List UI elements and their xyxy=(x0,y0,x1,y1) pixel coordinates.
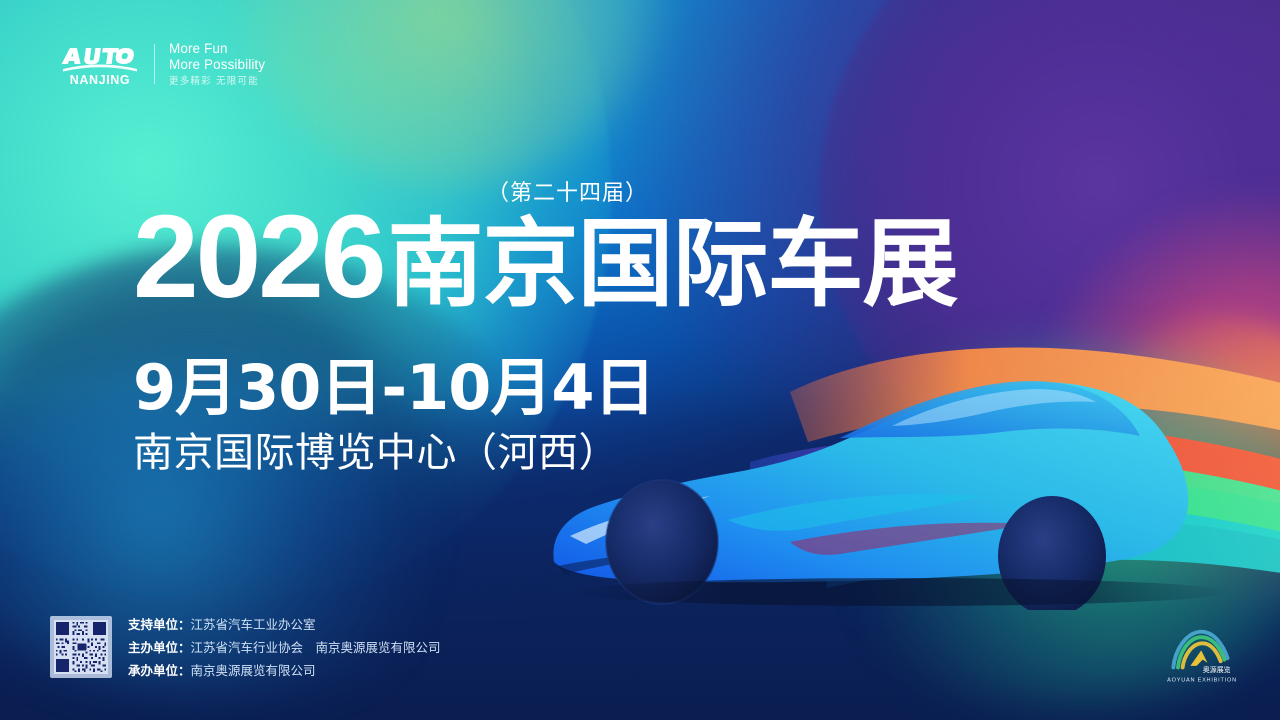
credit-value: 南京奥源展览有限公司 xyxy=(191,663,316,678)
brand-tagline: More Fun More Possibility 更多精彩 无限可能 xyxy=(169,41,265,87)
credit-label: 支持单位： xyxy=(128,617,191,632)
tagline-chinese: 更多精彩 无限可能 xyxy=(169,76,265,87)
auto-nanjing-logo: NANJING xyxy=(60,40,140,88)
event-dates: 9月30日-10月4日 xyxy=(133,337,655,427)
credit-label: 主办单位： xyxy=(128,640,191,655)
credit-row: 支持单位：江苏省汽车工业办公室 xyxy=(128,613,441,636)
brand-lockup: NANJING More Fun More Possibility 更多精彩 无… xyxy=(60,40,265,88)
title-chinese: 南京国际车展 xyxy=(388,216,958,312)
qr-code[interactable] xyxy=(50,616,112,678)
tagline-line-1: More Fun xyxy=(169,41,265,57)
poster-canvas: NANJING More Fun More Possibility 更多精彩 无… xyxy=(0,0,1280,720)
aoyuan-exhibition-logo: 奥源展览 AOYUAN EXHIBITION xyxy=(1158,624,1246,686)
sponsor-name-en: AOYUAN EXHIBITION xyxy=(1167,677,1237,683)
svg-text:NANJING: NANJING xyxy=(70,73,130,87)
tagline-line-2: More Possibility xyxy=(169,57,265,73)
credits-list: 支持单位：江苏省汽车工业办公室 主办单位：江苏省汽车行业协会 南京奥源展览有限公… xyxy=(128,613,441,682)
page-title: 2026 南京国际车展 xyxy=(133,201,958,314)
footer-block: 支持单位：江苏省汽车工业办公室 主办单位：江苏省汽车行业协会 南京奥源展览有限公… xyxy=(50,613,441,682)
credit-row: 主办单位：江苏省汽车行业协会 南京奥源展览有限公司 xyxy=(128,636,441,659)
credit-label: 承办单位： xyxy=(128,663,191,678)
event-venue: 南京国际博览中心（河西） xyxy=(133,420,619,478)
sponsor-name-cn: 奥源展览 xyxy=(1203,665,1231,674)
brand-divider xyxy=(154,44,155,84)
credit-row: 承办单位：南京奥源展览有限公司 xyxy=(128,659,441,682)
credit-value: 江苏省汽车工业办公室 xyxy=(191,617,316,632)
title-year: 2026 xyxy=(133,201,384,314)
credit-value: 江苏省汽车行业协会 南京奥源展览有限公司 xyxy=(191,640,441,655)
